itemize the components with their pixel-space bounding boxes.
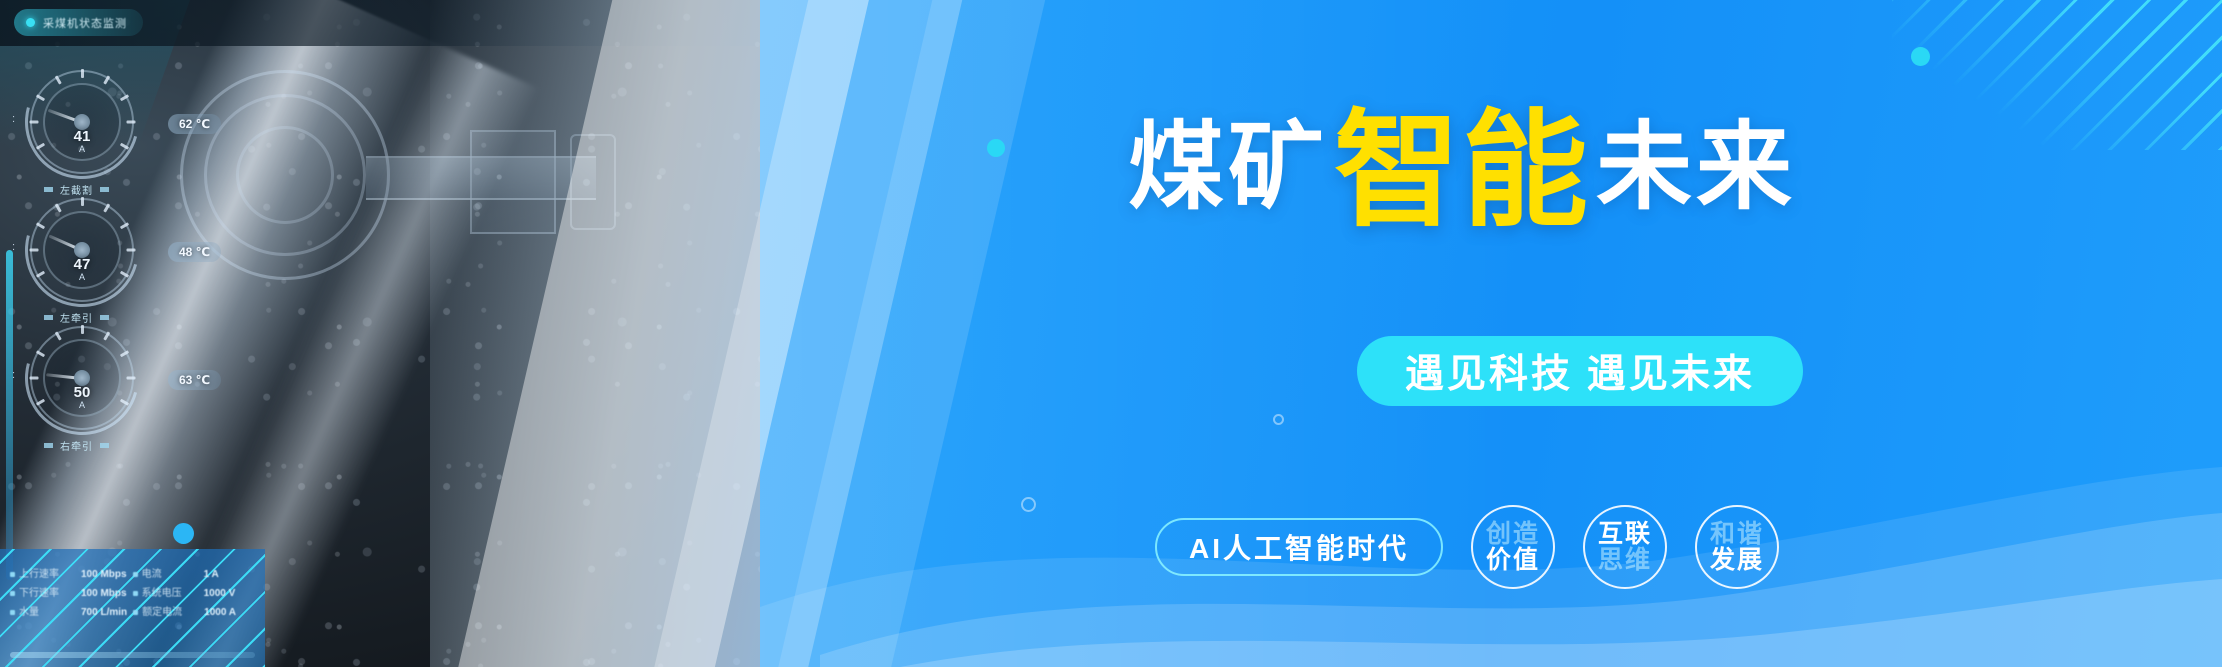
gauge-scale-dots: : — [12, 244, 15, 250]
dashboard-header-tab: 采煤机状态监测 — [14, 9, 143, 36]
badge-circle-bottom: 思维 — [1598, 547, 1652, 574]
badge-row: AI人工智能时代 创造 价值 互联 思维 和谐 发展 — [1155, 505, 1779, 589]
subtitle-pill[interactable]: 遇见科技 遇见未来 — [1357, 336, 1803, 406]
badge-circle-harmonious-development[interactable]: 和谐 发展 — [1695, 505, 1779, 589]
badge-circle-top: 和谐 — [1710, 521, 1764, 548]
accent-dot-icon — [987, 139, 1005, 157]
badge-circle-bottom: 发展 — [1710, 547, 1764, 574]
subtitle-text: 遇见科技 遇见未来 — [1405, 343, 1755, 399]
headline-suffix: 未来 — [1596, 114, 1796, 221]
badge-circle-top: 创造 — [1486, 521, 1540, 548]
badge-circle-bottom: 价值 — [1486, 547, 1540, 574]
badge-pill-label: AI人工智能时代 — [1189, 527, 1409, 567]
bottom-wave-decoration — [0, 407, 2222, 667]
gauge-temperature: 48 ℃ — [168, 242, 221, 262]
promo-banner: 采煤机状态监测 : 41 A 62 ℃ 左截割 : — [0, 0, 2222, 667]
badge-circle-create-value[interactable]: 创造 价值 — [1471, 505, 1555, 589]
gauge-value: 47 — [30, 256, 134, 273]
headline-highlight: 智能 — [1334, 100, 1590, 241]
gauge-unit: A — [30, 144, 134, 154]
gauge-temperature: 62 ℃ — [168, 114, 221, 134]
headline-prefix: 煤矿 — [1128, 114, 1328, 221]
gauge-temperature: 63 ℃ — [168, 370, 221, 390]
status-dot-icon — [26, 18, 35, 27]
gauge-left-haulage: : 47 A — [30, 198, 134, 302]
badge-ai-era[interactable]: AI人工智能时代 — [1155, 518, 1443, 576]
badge-circle-top: 互联 — [1598, 521, 1652, 548]
gauge-left-cutter: : 41 A — [30, 70, 134, 174]
accent-dot-icon — [1911, 47, 1930, 66]
headline: 煤矿智能未来 — [1128, 108, 1796, 234]
gauge-scale-dots: : — [12, 116, 15, 122]
gauge-value: 41 — [30, 128, 134, 145]
dashboard-header-label: 采煤机状态监测 — [43, 15, 127, 31]
badge-circle-connected-thinking[interactable]: 互联 思维 — [1583, 505, 1667, 589]
gauge-value: 50 — [30, 384, 134, 401]
gauge-unit: A — [30, 272, 134, 282]
diagonal-stripes-decoration — [1892, 0, 2222, 150]
